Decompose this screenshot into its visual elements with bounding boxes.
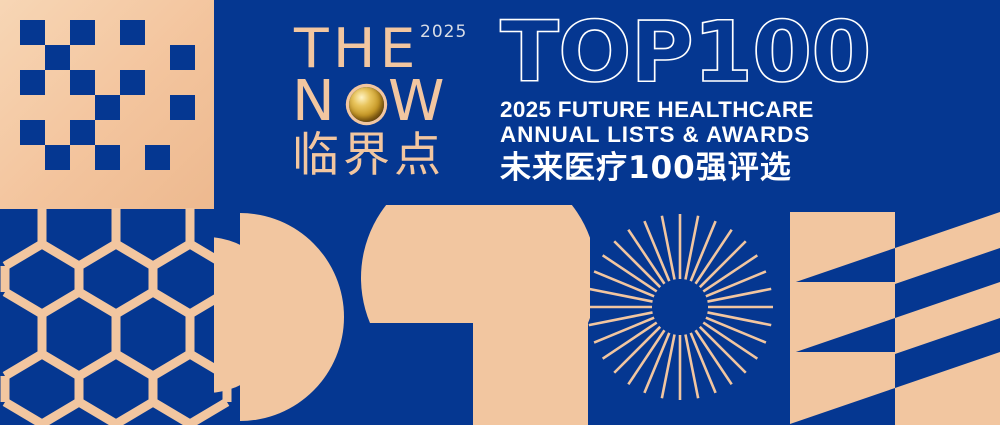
checker-cell — [170, 120, 195, 145]
checker-cell — [45, 170, 70, 195]
chinese-subtitle: 未来医疗100强评选 — [500, 150, 845, 186]
checker-cell — [45, 145, 70, 170]
checker-cell — [45, 45, 70, 70]
sunburst-ray — [614, 327, 660, 373]
radial-sunburst — [585, 212, 775, 402]
checker-cell — [95, 120, 120, 145]
promotional-banner: THE 2025 N W 临界点 TOP100 2025 FUTURE HEAL… — [0, 0, 1000, 425]
checker-cell — [95, 145, 120, 170]
sunburst-ray — [614, 241, 660, 287]
checker-cell — [120, 20, 145, 45]
checker-cell — [20, 20, 45, 45]
checker-cell — [120, 45, 145, 70]
top100-wrap: TOP100 — [500, 18, 845, 96]
slanted-band-pattern — [785, 196, 1000, 425]
checker-cell — [70, 170, 95, 195]
checker-cell — [20, 45, 45, 70]
headline-block: TOP100 2025 FUTURE HEALTHCARE ANNUAL LIS… — [500, 18, 845, 186]
checker-cell — [120, 145, 145, 170]
semicircle-disc-group — [214, 205, 590, 425]
checker-cell — [70, 145, 95, 170]
checker-cell — [20, 145, 45, 170]
checker-cell — [95, 20, 120, 45]
checker-cell — [145, 45, 170, 70]
checker-cell — [145, 95, 170, 120]
checker-cell — [145, 120, 170, 145]
checker-cell — [120, 120, 145, 145]
checker-cell — [45, 120, 70, 145]
checker-cell — [70, 120, 95, 145]
checker-cell — [170, 145, 195, 170]
logo-chinese-name: 临界点 — [292, 132, 445, 179]
checker-cell — [170, 45, 195, 70]
checker-cell — [45, 20, 70, 45]
checker-cell — [145, 20, 170, 45]
checker-cell — [145, 145, 170, 170]
checker-cell — [95, 170, 120, 195]
checker-cell — [170, 170, 195, 195]
checker-cell — [70, 95, 95, 120]
checker-cell — [20, 95, 45, 120]
checker-cell — [20, 120, 45, 145]
subtitle-line-2: ANNUAL LISTS & AWARDS — [500, 123, 845, 148]
checker-cell — [145, 170, 170, 195]
the-now-logo: THE 2025 N W 临界点 — [292, 22, 487, 187]
logo-year-superscript: 2025 — [420, 24, 467, 41]
checker-cell — [120, 70, 145, 95]
top100-title: TOP100 — [500, 8, 870, 96]
sunburst-ray — [700, 327, 746, 373]
logo-letter-n: N — [292, 74, 335, 130]
checkerboard-grid — [20, 20, 195, 195]
checkerboard-pattern — [0, 0, 214, 209]
logo-line-now: N W — [292, 74, 487, 132]
checker-cell — [70, 45, 95, 70]
gold-orb-icon — [349, 87, 384, 122]
checker-cell — [70, 20, 95, 45]
hexagon-lattice-pattern — [0, 208, 232, 425]
checker-cell — [95, 45, 120, 70]
checker-cell — [170, 70, 195, 95]
logo-letter-w: W — [388, 74, 444, 130]
checker-cell — [45, 70, 70, 95]
sunburst-ray — [700, 241, 746, 287]
checker-cell — [120, 95, 145, 120]
logo-word-the: THE — [294, 22, 420, 76]
checker-cell — [20, 70, 45, 95]
checker-cell — [45, 95, 70, 120]
checker-cell — [95, 70, 120, 95]
checker-cell — [20, 170, 45, 195]
checker-cell — [170, 20, 195, 45]
checker-cell — [170, 95, 195, 120]
checker-cell — [95, 95, 120, 120]
checker-cell — [120, 170, 145, 195]
checker-cell — [145, 70, 170, 95]
checker-cell — [70, 70, 95, 95]
subtitle-line-1: 2025 FUTURE HEALTHCARE — [500, 98, 845, 123]
